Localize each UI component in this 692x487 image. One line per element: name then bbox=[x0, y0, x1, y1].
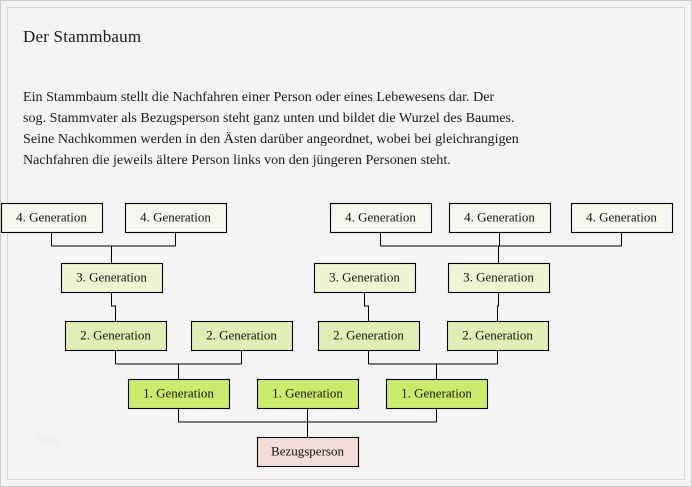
tree-node-generation-2[interactable]: 2. Generation bbox=[192, 322, 293, 351]
tree-node-label: 1. Generation bbox=[272, 385, 343, 400]
tree-node-generation-1[interactable]: 1. Generation bbox=[387, 380, 488, 409]
tree-node-label: 2. Generation bbox=[462, 327, 533, 342]
intro-line-2: sog. Stammvater als Bezugsperson steht g… bbox=[23, 108, 568, 129]
tree-node-label: 4. Generation bbox=[464, 209, 535, 224]
intro-line-4: Nachfahren die jeweils ältere Person lin… bbox=[23, 150, 568, 171]
tree-node-label: 3. Generation bbox=[463, 269, 534, 284]
tree-node-label: 4. Generation bbox=[140, 209, 211, 224]
tree-node-generation-1[interactable]: 1. Generation bbox=[129, 380, 230, 409]
tree-connector bbox=[498, 292, 499, 321]
page-root: Der Stammbaum Ein Stammbaum stellt die N… bbox=[0, 0, 692, 487]
tree-node-label: 3. Generation bbox=[76, 269, 147, 284]
family-tree-diagram: 4. Generation4. Generation4. Generation4… bbox=[1, 191, 692, 481]
tree-node-label: 4. Generation bbox=[586, 209, 657, 224]
tree-node-bezugsperson[interactable]: Bezugsperson bbox=[258, 438, 359, 467]
tree-node-generation-3[interactable]: 3. Generation bbox=[315, 264, 416, 293]
tree-node-generation-2[interactable]: 2. Generation bbox=[319, 322, 420, 351]
tree-connector bbox=[365, 292, 369, 321]
tree-connector bbox=[112, 292, 116, 321]
tree-node-generation-4[interactable]: 4. Generation bbox=[331, 204, 432, 233]
tree-node-label: 4. Generation bbox=[345, 209, 416, 224]
tree-node-label: 2. Generation bbox=[333, 327, 404, 342]
tree-node-generation-2[interactable]: 2. Generation bbox=[448, 322, 549, 351]
tree-node-generation-1[interactable]: 1. Generation bbox=[258, 380, 359, 409]
tree-node-label: 3. Generation bbox=[329, 269, 400, 284]
tree-node-generation-4[interactable]: 4. Generation bbox=[126, 204, 227, 233]
tree-node-generation-4[interactable]: 4. Generation bbox=[2, 204, 103, 233]
intro-line-3: Seine Nachkommen werden in den Ästen dar… bbox=[23, 129, 568, 150]
tree-node-label: Bezugsperson bbox=[271, 443, 344, 458]
tree-node-generation-4[interactable]: 4. Generation bbox=[572, 204, 673, 233]
page-title: Der Stammbaum bbox=[23, 27, 141, 47]
intro-paragraph: Ein Stammbaum stellt die Nachfahren eine… bbox=[23, 87, 568, 171]
tree-nodes-layer: 4. Generation4. Generation4. Generation4… bbox=[2, 204, 673, 467]
tree-node-generation-3[interactable]: 3. Generation bbox=[449, 264, 550, 293]
tree-node-label: 2. Generation bbox=[80, 327, 151, 342]
tree-node-label: 2. Generation bbox=[206, 327, 277, 342]
tree-node-generation-3[interactable]: 3. Generation bbox=[62, 264, 163, 293]
tree-node-label: 4. Generation bbox=[16, 209, 87, 224]
tree-node-label: 1. Generation bbox=[143, 385, 214, 400]
tree-node-label: 1. Generation bbox=[401, 385, 472, 400]
tree-node-generation-4[interactable]: 4. Generation bbox=[450, 204, 551, 233]
intro-line-1: Ein Stammbaum stellt die Nachfahren eine… bbox=[23, 87, 568, 108]
tree-node-generation-2[interactable]: 2. Generation bbox=[66, 322, 167, 351]
